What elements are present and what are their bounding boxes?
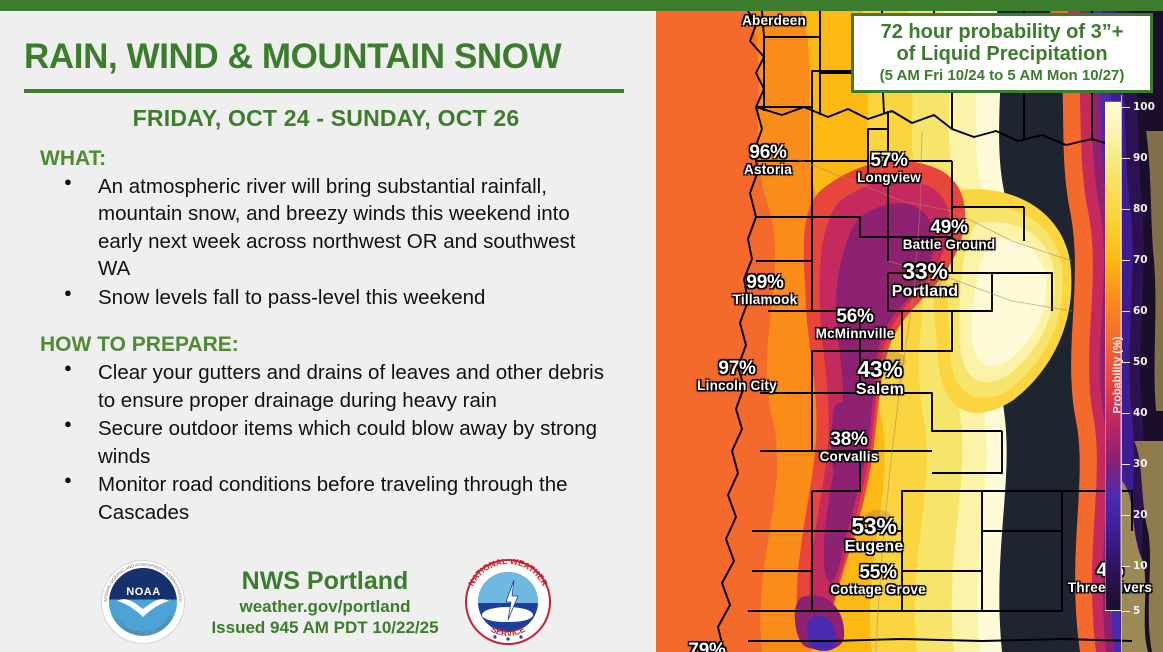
map-title-box: 72 hour probability of 3”+ of Liquid Pre… [851,13,1153,93]
footer: NOAA NATIONAL OCEANIC AND ATMOSPHERIC AD… [0,556,652,648]
what-bullet-list: An atmospheric river will bring substant… [64,173,638,311]
svg-text:NATIONAL WEATHER: NATIONAL WEATHER [466,559,550,588]
office-credit: NWS Portland weather.gov/portland Issued… [211,567,438,638]
date-range-subtitle: FRIDAY, OCT 24 - SUNDAY, OCT 26 [14,105,638,132]
list-item: An atmospheric river will bring substant… [64,173,609,283]
colorbar-tick-80: 80 [1133,203,1148,215]
map-title-line1: 72 hour probability of 3”+ [860,21,1144,43]
colorbar: 100 90 80 70 60 50 40 30 20 10 5 Probabi… [1097,95,1159,652]
section-heading-what: WHAT: [40,147,638,171]
section-heading-how-to-prepare: HOW TO PREPARE: [40,333,638,357]
map-title-line3: (5 AM Fri 10/24 to 5 AM Mon 10/27) [860,67,1144,84]
colorbar-tick-30: 30 [1133,458,1148,470]
noaa-arc-text: NATIONAL OCEANIC AND ATMOSPHERIC ADMINIS… [101,560,185,644]
colorbar-tick-20: 20 [1133,509,1148,521]
list-item: Monitor road conditions before traveling… [64,471,609,526]
precipitation-probability-map[interactable]: Aberdeen 96%Astoria 57%Longview 49%Battl… [652,11,1163,652]
office-name: NWS Portland [211,567,438,596]
svg-text:NATIONAL OCEANIC AND ATMOSPHER: NATIONAL OCEANIC AND ATMOSPHERIC ADMINIS… [101,560,183,603]
colorbar-tick-5: 5 [1133,605,1140,617]
nws-logo-icon: NATIONAL WEATHER SERVICE [465,559,551,645]
noaa-logo-icon: NOAA NATIONAL OCEANIC AND ATMOSPHERIC AD… [101,560,185,644]
colorbar-tick-40: 40 [1133,407,1148,419]
prepare-bullet-list: Clear your gutters and drains of leaves … [64,359,638,526]
nws-arc-text: NATIONAL WEATHER SERVICE [465,559,551,645]
list-item: Clear your gutters and drains of leaves … [64,359,609,414]
colorbar-tick-50: 50 [1133,356,1148,368]
colorbar-title: Probability (%) [1112,336,1124,413]
page-title: RAIN, WIND & MOUNTAIN SNOW [24,37,638,77]
map-title-line2: of Liquid Precipitation [860,43,1144,65]
list-item: Snow levels fall to pass-level this week… [64,284,609,311]
title-divider [24,89,624,93]
colorbar-tick-100: 100 [1133,101,1155,113]
list-item: Secure outdoor items which could blow aw… [64,415,609,470]
weather-graphic: RAIN, WIND & MOUNTAIN SNOW FRIDAY, OCT 2… [0,0,1163,652]
colorbar-tick-90: 90 [1133,152,1148,164]
top-accent-bar [0,0,1163,11]
colorbar-axis: 100 90 80 70 60 50 40 30 20 10 5 [1121,101,1159,611]
office-url[interactable]: weather.gov/portland [211,597,438,617]
panel-map-divider [652,11,656,652]
colorbar-tick-60: 60 [1133,305,1148,317]
colorbar-tick-70: 70 [1133,254,1148,266]
colorbar-tick-10: 10 [1133,560,1148,572]
info-panel: RAIN, WIND & MOUNTAIN SNOW FRIDAY, OCT 2… [0,11,652,652]
map-raster [652,11,1163,652]
svg-text:U.S. DEPARTMENT OF COMMERCE: U.S. DEPARTMENT OF COMMERCE [113,614,175,636]
issued-time: Issued 945 AM PDT 10/22/25 [211,618,438,638]
